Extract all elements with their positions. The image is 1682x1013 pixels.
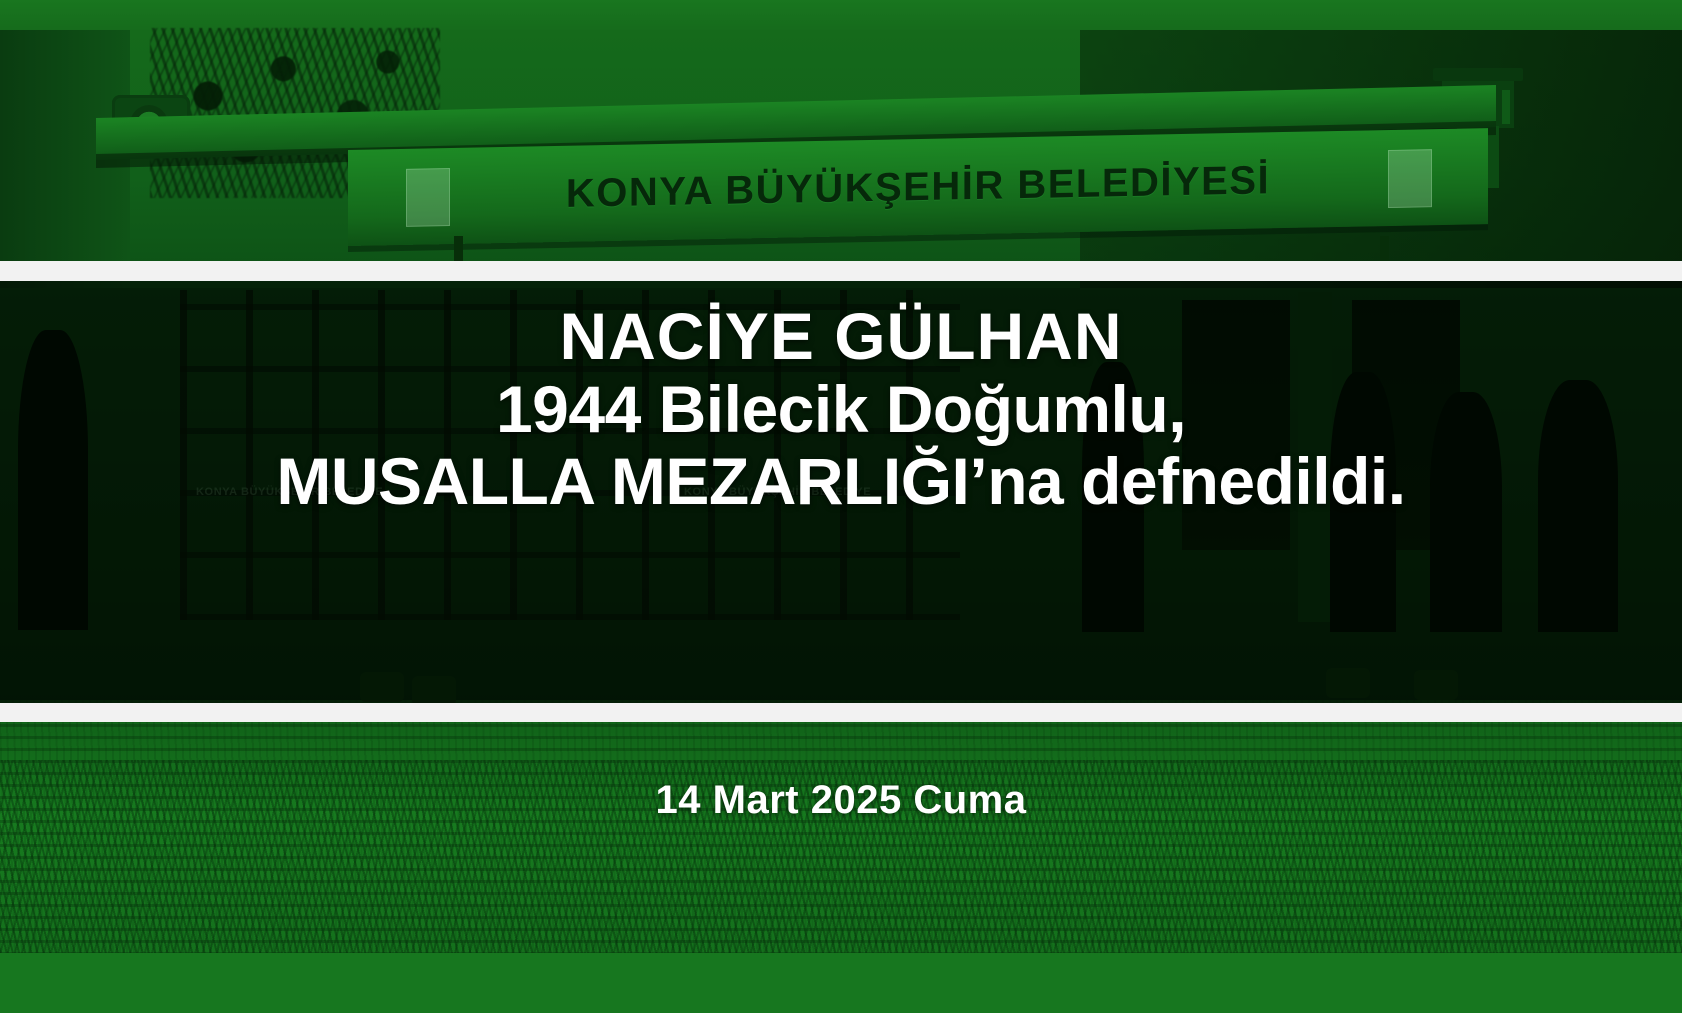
headline-line-birth: 1944 Bilecik Doğumlu,: [0, 373, 1682, 446]
headline-line-burial: MUSALLA MEZARLIĞI’na defnedildi.: [0, 445, 1682, 518]
date-text: 14 Mart 2025 Cuma: [0, 778, 1682, 823]
headline-line-name: NACİYE GÜLHAN: [0, 300, 1682, 373]
headline-block: NACİYE GÜLHAN 1944 Bilecik Doğumlu, MUSA…: [0, 300, 1682, 518]
announcement-card: KONYA BÜYÜKŞEHİR BELEDİYESİ KONYA BÜYÜKŞ…: [0, 0, 1682, 1013]
separator-bar-bottom: [0, 703, 1682, 722]
separator-bar-top: [0, 261, 1682, 281]
carpet-bottom-strip: [0, 953, 1682, 1013]
